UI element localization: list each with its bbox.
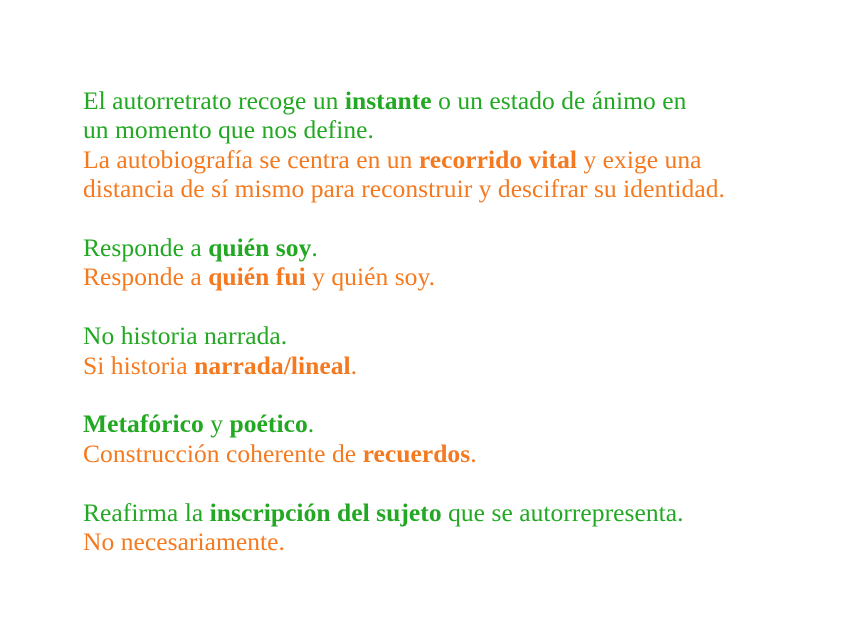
text-run: Responde a [83,262,208,291]
block-historia: No historia narrada.Si historia narrada/… [83,321,813,380]
text-run: . [308,409,314,438]
text-run: Responde a [83,233,208,262]
paragraph-spacer [83,468,813,497]
text-run: y quién soy. [306,262,435,291]
text-run: No historia narrada. [83,321,287,350]
block-instante: El autorretrato recoge un instante o un … [83,86,813,204]
text-run: . [351,351,357,380]
emphasis-text-run: inscripción del sujeto [210,498,442,527]
text-run: Construcción coherente de [83,439,363,468]
line-5: Responde a quién soy. [83,233,813,262]
text-run: que se autorrepresenta. [442,498,684,527]
emphasis-text-run: narrada/lineal [194,351,351,380]
line-3: La autobiografía se centra en un recorri… [83,145,813,174]
paragraph-spacer [83,380,813,409]
line-8: Si historia narrada/lineal. [83,351,813,380]
text-run: No necesariamente. [83,527,285,556]
paragraph-spacer [83,204,813,233]
block-metaforico: Metafórico y poético.Construcción cohere… [83,409,813,468]
text-run: distancia de sí mismo para reconstruir y… [83,174,725,203]
block-quien: Responde a quién soy.Responde a quién fu… [83,233,813,292]
text-run: . [470,439,476,468]
text-run: y exige una [577,145,702,174]
line-10: Construcción coherente de recuerdos. [83,439,813,468]
emphasis-text-run: quién soy [208,233,311,262]
block-reafirma: Reafirma la inscripción del sujeto que s… [83,498,813,557]
line-4: distancia de sí mismo para reconstruir y… [83,174,813,203]
text-run: Si historia [83,351,194,380]
emphasis-text-run: quién fui [208,262,306,291]
emphasis-text-run: instante [345,86,432,115]
text-run: La autobiografía se centra en un [83,145,419,174]
text-run: El autorretrato recoge un [83,86,345,115]
text-run: y [204,409,230,438]
emphasis-text-run: poético [230,409,308,438]
slide-text-body: El autorretrato recoge un instante o un … [83,86,813,556]
emphasis-text-run: recorrido vital [419,145,577,174]
text-run: un momento que nos define. [83,115,374,144]
text-run: o un estado de ánimo en [432,86,687,115]
text-run: . [311,233,317,262]
line-1: El autorretrato recoge un instante o un … [83,86,813,115]
line-6: Responde a quién fui y quién soy. [83,262,813,291]
line-9: Metafórico y poético. [83,409,813,438]
emphasis-text-run: Metafórico [83,409,204,438]
line-7: No historia narrada. [83,321,813,350]
paragraph-spacer [83,292,813,321]
line-12: No necesariamente. [83,527,813,556]
line-11: Reafirma la inscripción del sujeto que s… [83,498,813,527]
emphasis-text-run: recuerdos [363,439,471,468]
text-run: Reafirma la [83,498,210,527]
line-2: un momento que nos define. [83,115,813,144]
slide-canvas: El autorretrato recoge un instante o un … [0,0,848,641]
